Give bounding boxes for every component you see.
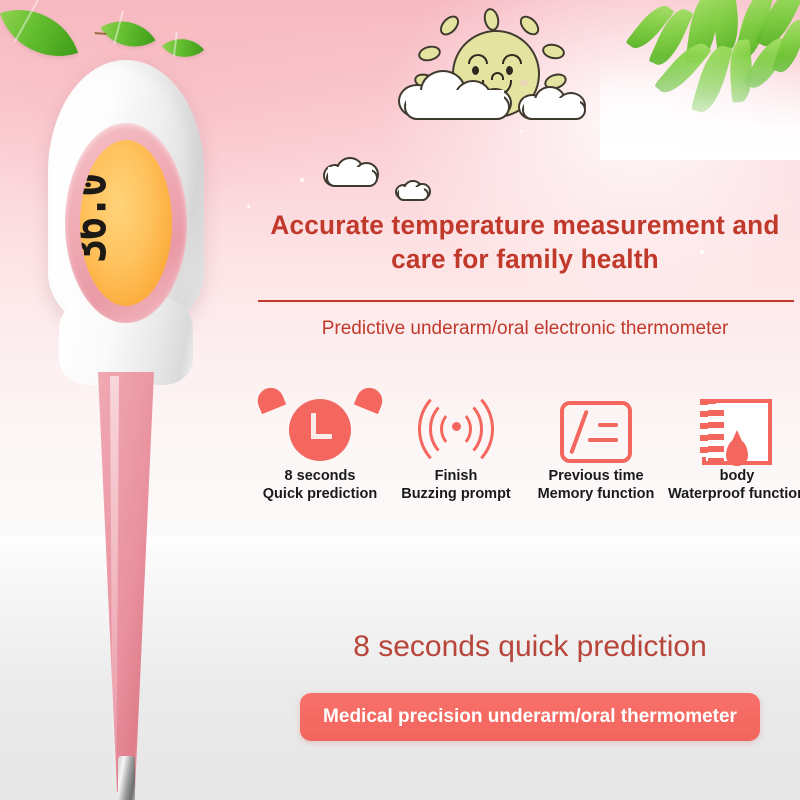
feature-label-line-2: Quick prediction	[250, 485, 390, 503]
bottom-cta-label: Medical precision underarm/oral thermome…	[323, 706, 737, 728]
headline-line-1: Accurate temperature measurement and	[263, 208, 787, 242]
cloud-icon	[395, 180, 429, 198]
thermometer-stem	[98, 372, 154, 792]
waterproof-icon	[654, 375, 800, 467]
cloud-icon	[398, 68, 518, 118]
headline-line-2: care for family health	[263, 242, 787, 276]
sound-wave-icon	[388, 375, 524, 467]
lcd-temperature-value: 36.0	[80, 175, 117, 263]
feature-item-quick-prediction: 8 seconds Quick prediction	[250, 375, 390, 503]
sparkle-icon	[300, 178, 304, 182]
feature-label-line-2: Buzzing prompt	[388, 485, 524, 503]
promo-banner: 36.0 °C M Accurate temperature measureme…	[0, 0, 800, 800]
feature-label-line-1: Previous time	[522, 467, 670, 485]
feature-item-memory-function: Previous time Memory function	[522, 375, 670, 503]
cloud-icon	[518, 86, 590, 118]
thermometer-product-image: 36.0 °C M	[36, 60, 216, 790]
alarm-clock-icon	[250, 375, 390, 467]
thermometer-metal-tip	[118, 756, 135, 800]
memory-note-icon	[522, 375, 670, 467]
feature-item-waterproof: body Waterproof function	[654, 375, 800, 503]
bottom-cta-banner[interactable]: Medical precision underarm/oral thermome…	[300, 693, 760, 741]
feature-list: 8 seconds Quick prediction Finish Buzzin…	[250, 375, 800, 525]
page-subtitle: Predictive underarm/oral electronic ther…	[255, 318, 795, 340]
page-title: Accurate temperature measurement and car…	[263, 208, 787, 276]
sparkle-icon	[247, 205, 250, 208]
feature-label-line-1: 8 seconds	[250, 467, 390, 485]
feature-label-line-2: Waterproof function	[654, 485, 800, 503]
feature-label-line-2: Memory function	[522, 485, 670, 503]
feature-item-buzzing-prompt: Finish Buzzing prompt	[388, 375, 524, 503]
bottom-headline: 8 seconds quick prediction	[300, 630, 760, 664]
feature-label-line-1: body	[654, 467, 800, 485]
thermometer-lcd-screen: 36.0 °C M	[80, 140, 172, 306]
cloud-icon	[323, 157, 381, 185]
divider	[258, 300, 794, 302]
